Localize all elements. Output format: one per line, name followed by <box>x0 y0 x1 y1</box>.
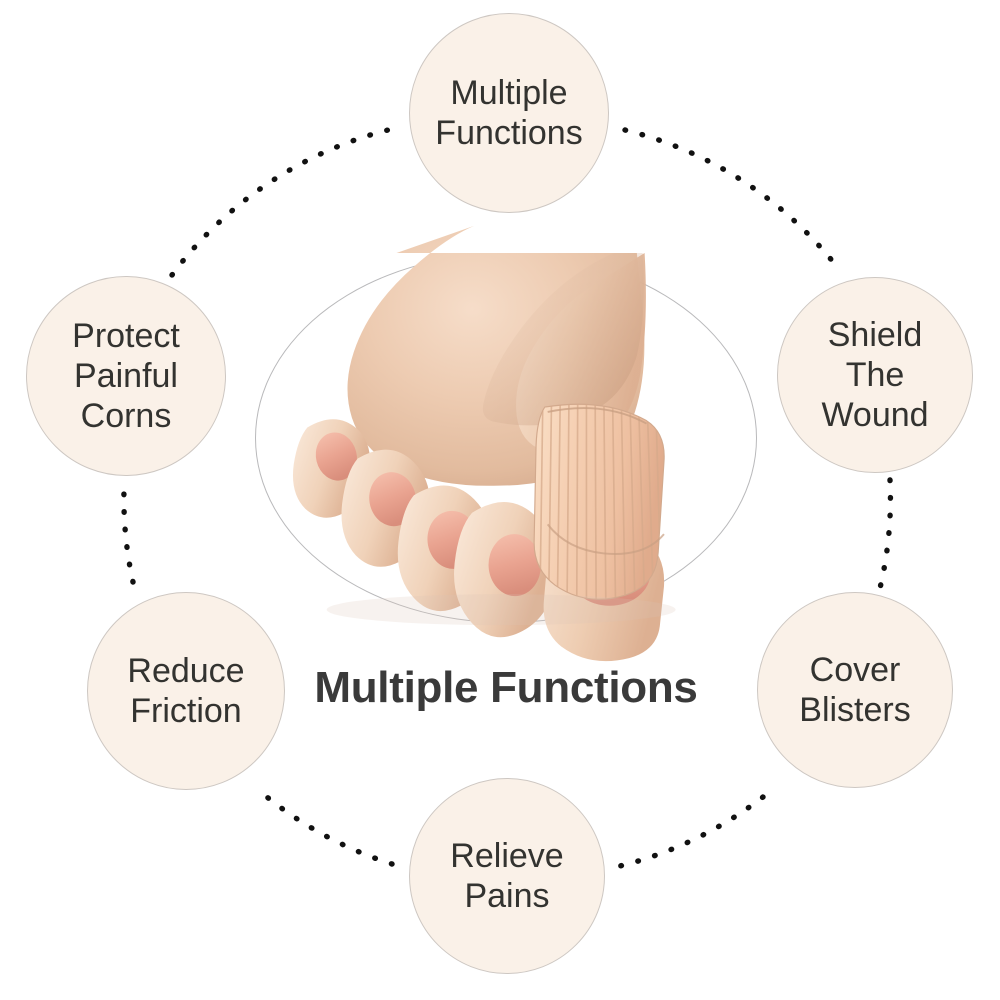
toe-sleeve <box>534 396 664 601</box>
benefit-label: ShieldTheWound <box>813 315 936 435</box>
connector-arc-4 <box>262 793 392 864</box>
benefit-label: RelievePains <box>442 836 571 916</box>
benefit-label: ProtectPainfulCorns <box>64 316 188 436</box>
foot-shadow <box>327 594 676 625</box>
center-photo-stage <box>255 253 757 623</box>
benefit-label: CoverBlisters <box>791 650 918 730</box>
connector-arc-3 <box>620 797 763 866</box>
center-title: Multiple Functions <box>255 663 757 713</box>
benefit-bubble-reduce-friction[interactable]: ReduceFriction <box>87 592 285 790</box>
foot-with-toe-sleeve-image <box>255 253 757 631</box>
infographic-canvas: Multiple Functions MultipleFunctions Shi… <box>0 0 1000 1000</box>
connector-arc-2 <box>880 480 890 588</box>
benefit-bubble-protect-painful-corns[interactable]: ProtectPainfulCorns <box>26 276 226 476</box>
connector-arc-1 <box>625 130 841 272</box>
toe-sleeve-body <box>534 404 664 599</box>
connector-arc-5 <box>124 489 133 582</box>
benefit-bubble-cover-blisters[interactable]: CoverBlisters <box>757 592 953 788</box>
benefit-bubble-shield-the-wound[interactable]: ShieldTheWound <box>777 277 973 473</box>
benefit-label: MultipleFunctions <box>427 73 590 153</box>
foot-illustration <box>293 226 676 661</box>
benefit-bubble-multiple-functions[interactable]: MultipleFunctions <box>409 13 609 213</box>
benefit-label: ReduceFriction <box>119 651 252 731</box>
benefit-bubble-relieve-pains[interactable]: RelievePains <box>409 778 605 974</box>
